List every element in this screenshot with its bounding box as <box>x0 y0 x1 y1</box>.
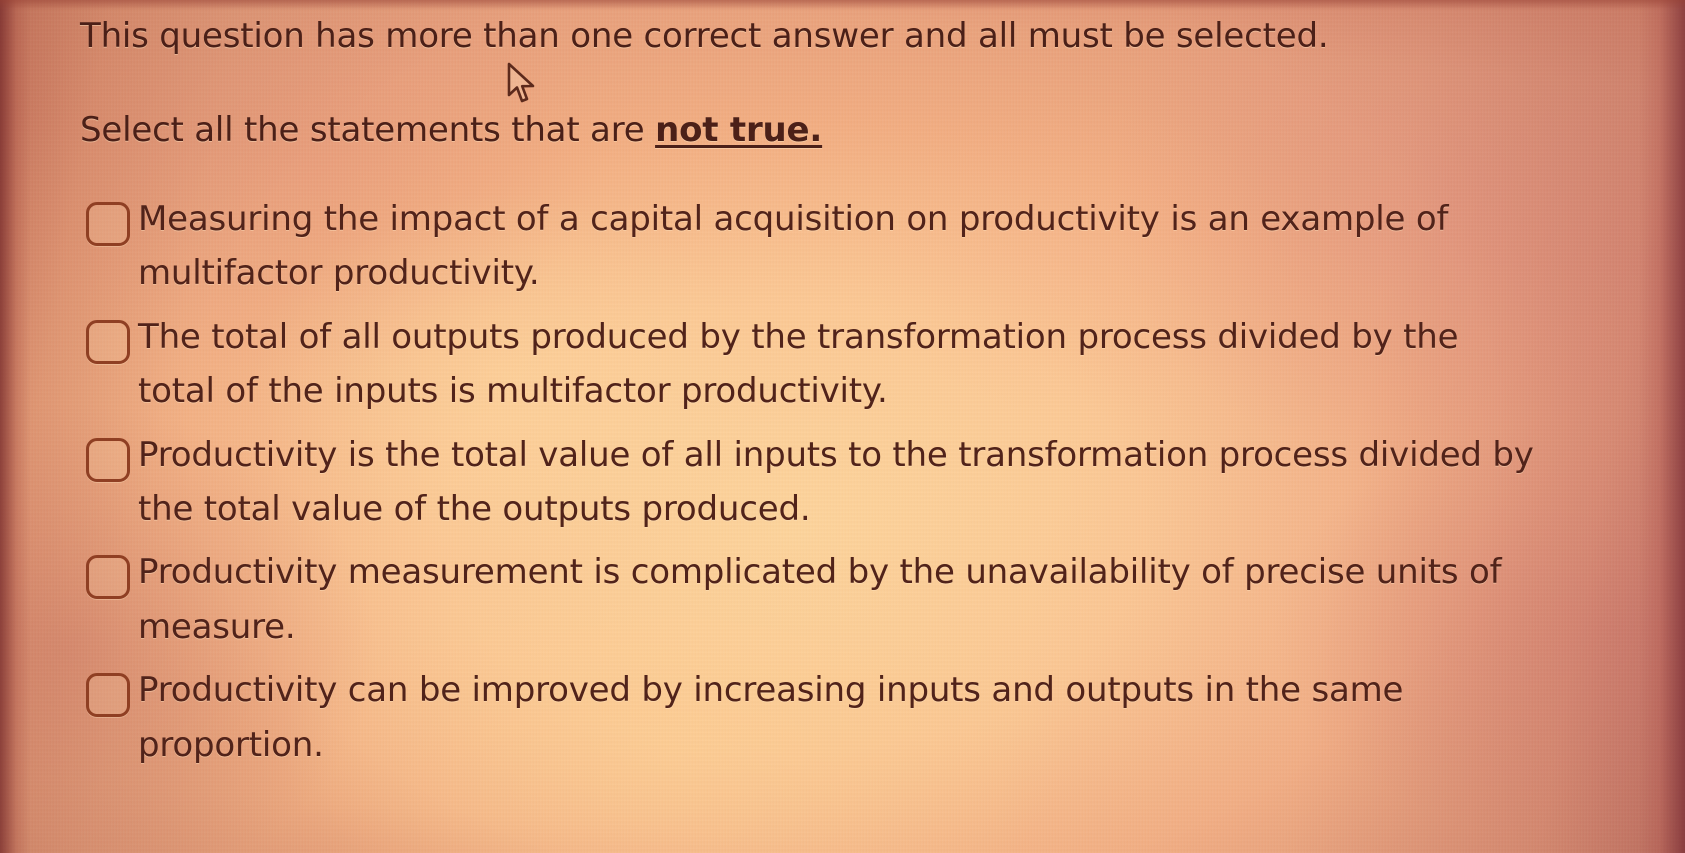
answer-option-label: Measuring the impact of a capital acquis… <box>138 192 1538 301</box>
answer-option-label: Productivity measurement is complicated … <box>138 545 1538 654</box>
answer-option-3[interactable]: Productivity is the total value of all i… <box>86 428 1575 537</box>
answer-option-label: Productivity can be improved by increasi… <box>138 663 1538 772</box>
answer-option-1[interactable]: Measuring the impact of a capital acquis… <box>86 192 1575 301</box>
screen-photo: This question has more than one correct … <box>0 0 1685 853</box>
question-content: This question has more than one correct … <box>0 0 1685 853</box>
question-intro-text: This question has more than one correct … <box>80 16 1328 56</box>
checkbox-unchecked-icon[interactable] <box>86 673 130 717</box>
checkbox-unchecked-icon[interactable] <box>86 202 130 246</box>
answer-option-label: The total of all outputs produced by the… <box>138 310 1538 419</box>
answer-option-4[interactable]: Productivity measurement is complicated … <box>86 545 1575 654</box>
checkbox-unchecked-icon[interactable] <box>86 555 130 599</box>
instruction-emphasis: not true. <box>655 110 822 150</box>
instruction-prefix: Select all the statements that are <box>80 110 655 150</box>
question-instruction: Select all the statements that are not t… <box>80 110 822 150</box>
answer-option-2[interactable]: The total of all outputs produced by the… <box>86 310 1575 419</box>
answer-options-list: Measuring the impact of a capital acquis… <box>86 192 1575 781</box>
checkbox-unchecked-icon[interactable] <box>86 320 130 364</box>
answer-option-label: Productivity is the total value of all i… <box>138 428 1538 537</box>
answer-option-5[interactable]: Productivity can be improved by increasi… <box>86 663 1575 772</box>
checkbox-unchecked-icon[interactable] <box>86 438 130 482</box>
